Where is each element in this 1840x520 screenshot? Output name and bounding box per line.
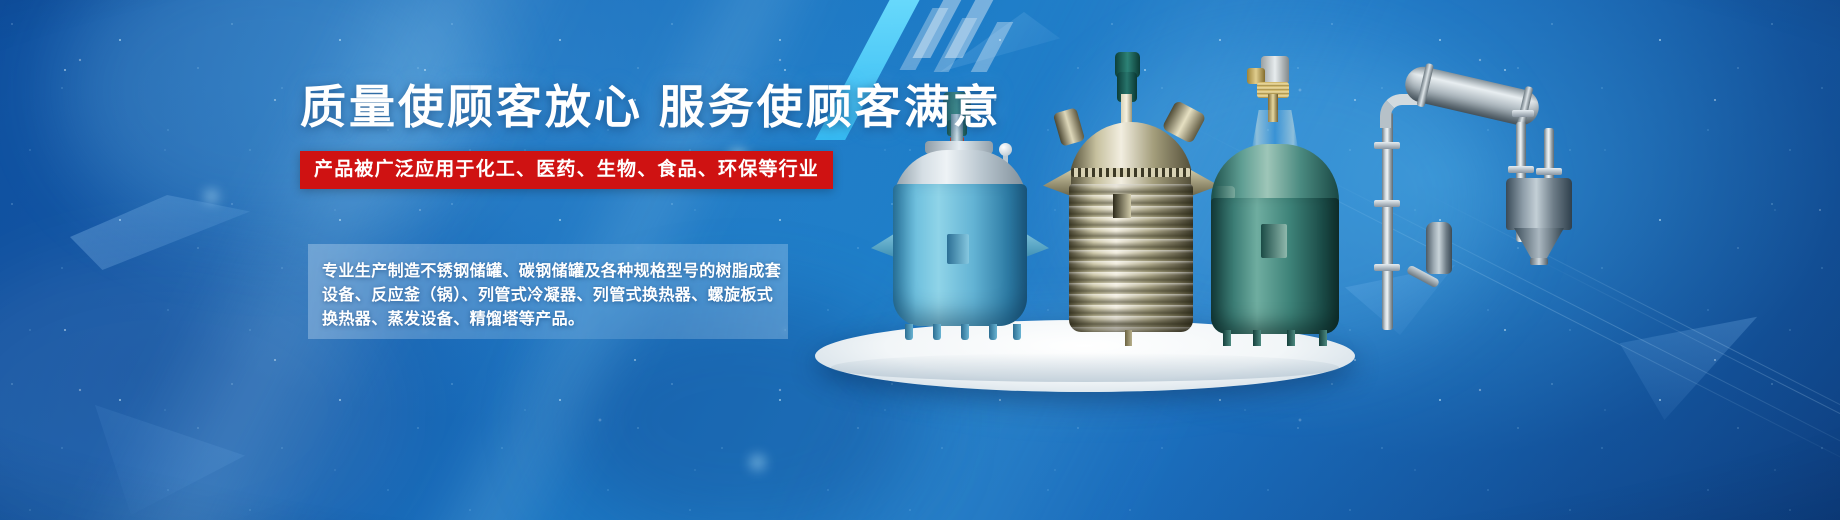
- vessel-leg: [933, 324, 941, 340]
- vessel-leg: [905, 324, 913, 340]
- inlet-nozzle: [1053, 107, 1085, 146]
- vessel-leg: [989, 324, 997, 340]
- support-bracket: [1043, 170, 1071, 196]
- pipe-flange: [1508, 166, 1534, 173]
- separator-outlet: [1530, 258, 1548, 265]
- description-text: 专业生产制造不锈钢储罐、碳钢储罐及各种规格型号的树脂成套设备、反应釜（锅）、列管…: [322, 260, 782, 332]
- vessel-leg: [1013, 324, 1021, 340]
- page-title: 质量使顾客放心 服务使顾客满意: [300, 84, 920, 130]
- pipe-flange: [1374, 200, 1400, 207]
- vessel-leg: [1287, 330, 1295, 346]
- separator-vessel: [1506, 178, 1572, 230]
- pipe-flange: [1536, 168, 1562, 175]
- triangle-shard: [95, 405, 245, 515]
- sight-glass: [1113, 194, 1131, 218]
- tube-condenser-assembly: [1330, 50, 1660, 350]
- hero-banner: 质量使顾客放心 服务使顾客满意 产品被广泛应用于化工、医药、生物、食品、环保等行…: [0, 0, 1840, 520]
- triangle-shard: [70, 195, 250, 270]
- receiver-pot: [1426, 222, 1452, 274]
- status-badge: 产品被广泛应用于化工、医药、生物、食品、环保等行业: [300, 151, 833, 189]
- banner-copy: 质量使顾客放心 服务使顾客满意 产品被广泛应用于化工、医药、生物、食品、环保等行…: [300, 84, 920, 189]
- vessel-leg: [1125, 330, 1132, 346]
- light-flare: [750, 455, 765, 470]
- gear-motor-icon: [1261, 56, 1289, 84]
- pipe-flange: [1374, 264, 1400, 271]
- vessel-leg: [1223, 330, 1231, 346]
- light-flare: [205, 190, 218, 203]
- bolted-flange: [1071, 168, 1191, 177]
- vessel-body: [1069, 184, 1193, 332]
- pipe-flange: [1374, 142, 1400, 149]
- sight-glass: [947, 234, 969, 264]
- pipe-flange: [1512, 110, 1534, 117]
- sight-glass: [1261, 224, 1287, 258]
- stainless-ribbed-reactor: [1055, 66, 1205, 346]
- vessel-body: [1211, 198, 1339, 334]
- vessel-leg: [961, 324, 969, 340]
- vessel-leg: [1253, 330, 1261, 346]
- vessel-leg: [1319, 330, 1327, 346]
